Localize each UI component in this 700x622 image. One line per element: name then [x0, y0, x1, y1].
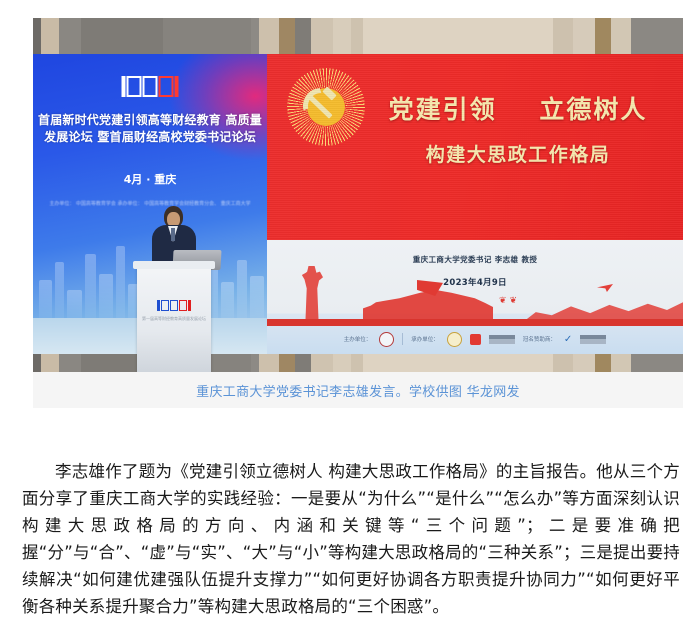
gold-circle-logo	[447, 332, 462, 347]
lectern-top	[133, 261, 215, 269]
lectern: 第一届高等财经教育高质量发展论坛	[137, 266, 211, 372]
red-city-silhouette: ❦❦	[267, 266, 683, 326]
photo-caption-bar: 重庆工商大学党委书记李志雄发言。学校供图 华龙网发	[33, 372, 683, 408]
paper-plane-icon	[597, 284, 613, 292]
red-square-logo	[470, 334, 481, 345]
slide-speaker-line: 重庆工商大学党委书记 李志雄 教授	[267, 254, 683, 265]
lectern-heec-logo	[157, 300, 191, 311]
check-icon: ✓	[564, 334, 572, 345]
forum-subtitle: 4月 · 重庆	[33, 171, 267, 187]
doves-icon: ❦❦	[499, 296, 520, 306]
sponsor-divider	[402, 333, 403, 345]
sponsor-label-0: 主办单位：	[344, 335, 372, 343]
photo-caption-text: 重庆工商大学党委书记李志雄发言。学校供图 华龙网发	[196, 381, 520, 400]
article-body-paragraph: 李志雄作了题为《党建引领立德树人 构建大思政工作格局》的主旨报告。他从三个方面分…	[22, 458, 680, 620]
article-photo: 首届新时代党建引领高等财经教育 高质量发展论坛 暨首届财经高校党委书记论坛 4月…	[33, 18, 683, 372]
partner-wordmark-logo	[489, 335, 515, 344]
sponsor-row: 主办单位： 承办单位： 冠名赞助商： ✓	[267, 326, 683, 352]
silhouette-baseline	[267, 319, 683, 326]
cdut-seal-logo	[379, 332, 394, 347]
screen-slide-lower: 重庆工商大学党委书记 李志雄 教授 2023年4月9日 ❦❦ 主办单位： 承办单…	[267, 240, 683, 354]
cpc-party-emblem-icon	[287, 68, 365, 146]
check-wordmark-logo	[580, 335, 606, 344]
sponsor-label-1: 承办单位：	[411, 335, 439, 343]
stage-led-screen: 首届新时代党建引领高等财经教育 高质量发展论坛 暨首届财经高校党委书记论坛 4月…	[33, 54, 683, 354]
speaker-tie	[171, 228, 175, 241]
lectern-caption-text: 第一届高等财经教育高质量发展论坛	[137, 316, 211, 322]
liberation-monument-silhouette	[301, 266, 323, 322]
heec-logo	[122, 76, 179, 97]
banner-main-title: 党建引领 立德树人	[363, 90, 673, 126]
sponsor-label-3: 冠名赞助商：	[523, 335, 556, 343]
banner-sub-title: 构建大思政工作格局	[363, 140, 673, 167]
screen-red-banner: 党建引领 立德树人 构建大思政工作格局	[267, 54, 683, 240]
forum-title: 首届新时代党建引领高等财经教育 高质量发展论坛 暨首届财经高校党委书记论坛	[33, 112, 267, 146]
